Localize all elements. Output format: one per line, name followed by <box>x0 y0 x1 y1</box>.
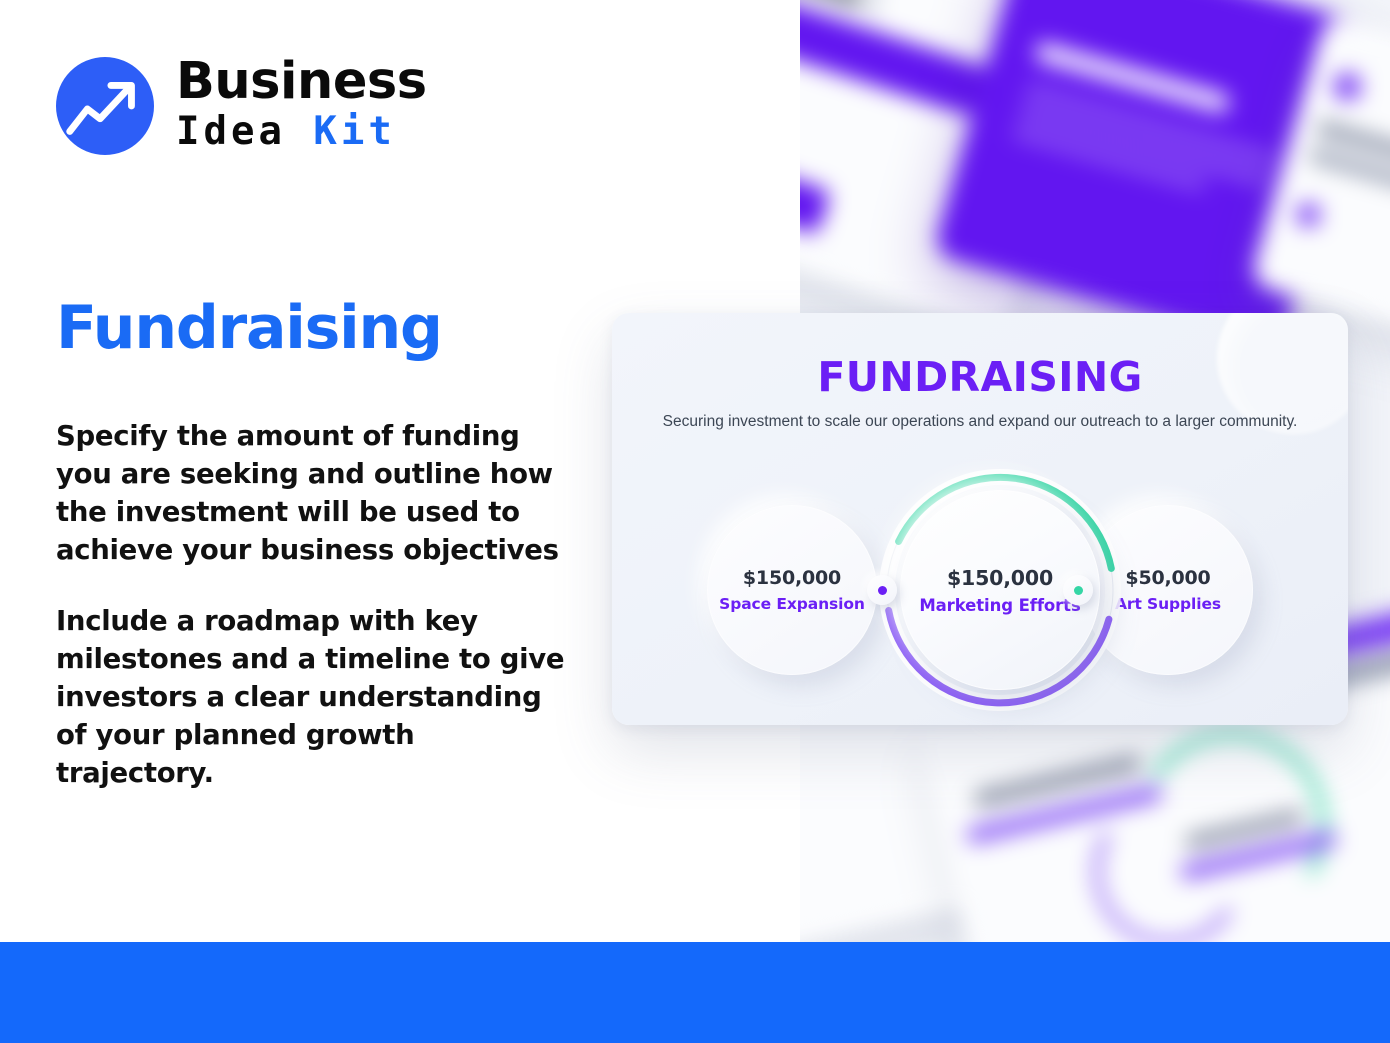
growth-arrow-icon <box>56 57 154 155</box>
background-slide-heading-bar <box>792 0 864 7</box>
description-block: Specify the amount of funding you are se… <box>56 418 566 792</box>
brand-wordmark: Business Idea Kit <box>176 56 427 157</box>
funding-circle-space-expansion[interactable]: $150,000 Space Expansion <box>707 505 877 675</box>
connector-dot-purple <box>878 586 887 595</box>
funding-label: Marketing Efforts <box>919 596 1080 615</box>
page-title: Fundraising <box>56 296 442 361</box>
brand-kit-text: Kit <box>313 109 395 154</box>
brand-name-line1: Business <box>176 56 427 108</box>
connector-knob-right <box>1063 575 1093 605</box>
brand-name-line2: Idea Kit <box>176 108 427 157</box>
funding-amount: $150,000 <box>947 566 1053 590</box>
funding-circles-cluster: $150,000 Space Expansion $150,000 Market… <box>612 468 1348 718</box>
slide-title: FUNDRAISING <box>612 353 1348 401</box>
brand-logo: Business Idea Kit <box>56 56 427 157</box>
connector-dot-green <box>1074 586 1083 595</box>
connector-knob-left <box>867 575 897 605</box>
slide-preview-card[interactable]: FUNDRAISING Securing investment to scale… <box>612 313 1348 725</box>
footer-bar <box>0 942 1390 1043</box>
funding-circle-center-wrap: $150,000 Marketing Efforts <box>878 468 1082 712</box>
funding-label: Art Supplies <box>1115 595 1221 613</box>
brand-idea-text: Idea <box>176 109 286 154</box>
background-slide-text-bar <box>1307 147 1390 191</box>
background-slide-dot <box>1330 69 1365 104</box>
funding-amount: $150,000 <box>743 567 841 589</box>
funding-label: Space Expansion <box>719 595 865 613</box>
description-paragraph-1: Specify the amount of funding you are se… <box>56 418 566 570</box>
slide-page: Business Idea Kit Fundraising Specify th… <box>0 0 1390 1043</box>
slide-subtitle: Securing investment to scale our operati… <box>612 411 1348 433</box>
funding-amount: $50,000 <box>1125 567 1210 589</box>
background-slide-dot <box>1294 200 1324 230</box>
description-paragraph-2: Include a roadmap with key milestones an… <box>56 603 566 793</box>
